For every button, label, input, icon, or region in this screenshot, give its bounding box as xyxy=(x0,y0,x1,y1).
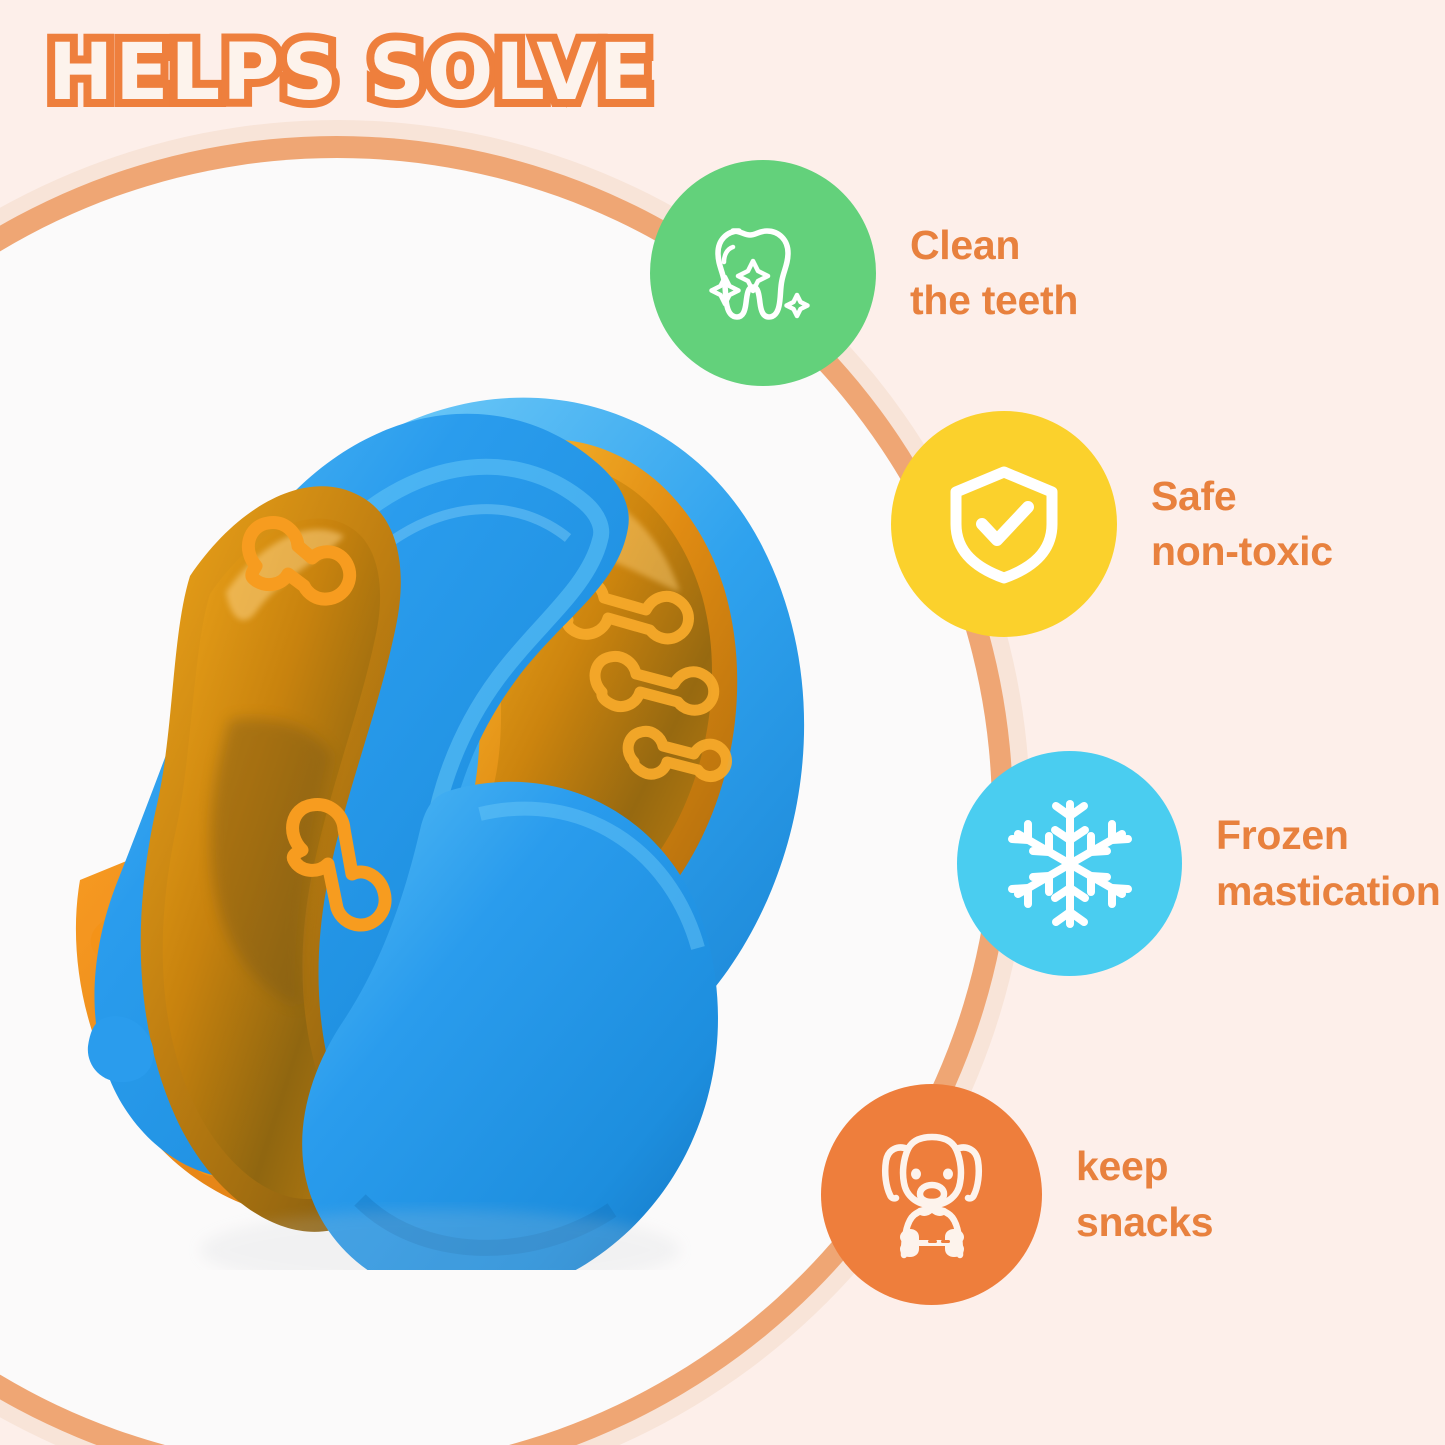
feature-keep-snacks[interactable]: keep snacks xyxy=(821,1084,1213,1305)
shield-check-icon xyxy=(940,460,1068,588)
feature-badge-clean-teeth xyxy=(650,160,876,386)
snowflake-icon xyxy=(1000,794,1140,934)
feature-badge-frozen-mastication xyxy=(957,751,1182,976)
feature-badge-safe-non-toxic xyxy=(891,411,1117,637)
tooth-icon xyxy=(699,209,827,337)
product-image xyxy=(60,320,850,1270)
feature-label-keep-snacks: keep snacks xyxy=(1076,1139,1213,1250)
infographic-canvas: HELPS SOLVE xyxy=(0,0,1445,1445)
feature-label-safe-non-toxic: Safe non-toxic xyxy=(1151,469,1333,580)
page-title-text: HELPS SOLVE xyxy=(48,34,654,112)
feature-clean-teeth[interactable]: Clean the teeth xyxy=(650,160,1078,386)
page-title: HELPS SOLVE xyxy=(48,34,654,112)
feature-label-frozen-mastication: Frozen mastication xyxy=(1216,808,1441,919)
feature-label-clean-teeth: Clean the teeth xyxy=(910,218,1078,329)
feature-safe-non-toxic[interactable]: Safe non-toxic xyxy=(891,411,1333,637)
dog-bone-icon xyxy=(866,1129,998,1261)
feature-badge-keep-snacks xyxy=(821,1084,1042,1305)
feature-frozen-mastication[interactable]: Frozen mastication xyxy=(957,751,1441,976)
